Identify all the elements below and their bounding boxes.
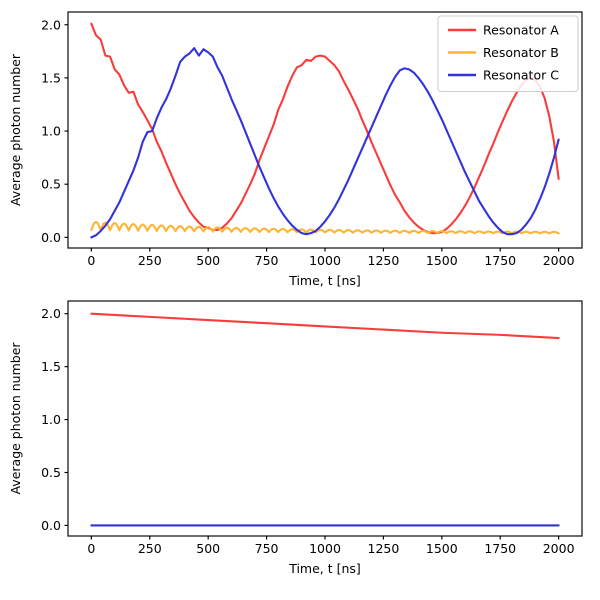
x-tick-label: 750 bbox=[255, 541, 279, 556]
y-axis-label: Average photon number bbox=[8, 342, 23, 495]
x-tick-label: 1250 bbox=[368, 253, 400, 268]
chart-panel-bottom: 025050075010001250150017502000Time, t [n… bbox=[0, 288, 600, 600]
legend: Resonator AResonator BResonator C bbox=[438, 16, 578, 92]
x-axis: 025050075010001250150017502000Time, t [n… bbox=[87, 536, 574, 576]
y-axis: 0.00.51.01.52.0Average photon number bbox=[8, 17, 68, 245]
x-tick-label: 500 bbox=[196, 253, 220, 268]
x-tick-label: 750 bbox=[255, 253, 279, 268]
chart-panel-top: 025050075010001250150017502000Time, t [n… bbox=[0, 0, 600, 300]
y-tick-label: 1.0 bbox=[41, 412, 61, 427]
y-axis: 0.00.51.01.52.0Average photon number bbox=[8, 306, 68, 533]
plot-top: 025050075010001250150017502000Time, t [n… bbox=[0, 0, 600, 300]
y-tick-label: 0.5 bbox=[41, 465, 61, 480]
x-tick-label: 0 bbox=[87, 541, 95, 556]
plot-bottom: 025050075010001250150017502000Time, t [n… bbox=[0, 288, 600, 600]
axes-frame bbox=[68, 301, 582, 536]
x-tick-label: 1000 bbox=[309, 253, 341, 268]
y-axis-label: Average photon number bbox=[8, 53, 23, 206]
y-tick-label: 0.0 bbox=[41, 518, 61, 533]
x-tick-label: 1000 bbox=[309, 541, 341, 556]
x-tick-label: 2000 bbox=[543, 253, 575, 268]
x-axis-label: Time, t [ns] bbox=[288, 561, 361, 576]
x-tick-label: 500 bbox=[196, 541, 220, 556]
x-tick-label: 0 bbox=[87, 253, 95, 268]
legend-label-resonator-a: Resonator A bbox=[483, 23, 559, 38]
x-axis-label: Time, t [ns] bbox=[288, 273, 361, 288]
y-tick-label: 2.0 bbox=[41, 17, 61, 32]
y-tick-label: 1.5 bbox=[41, 70, 61, 85]
y-tick-label: 1.5 bbox=[41, 359, 61, 374]
y-tick-label: 0.0 bbox=[41, 230, 61, 245]
x-tick-label: 250 bbox=[138, 541, 162, 556]
x-axis: 025050075010001250150017502000Time, t [n… bbox=[87, 248, 574, 288]
x-tick-label: 250 bbox=[138, 253, 162, 268]
x-tick-label: 1250 bbox=[368, 541, 400, 556]
series-line-resonator-a bbox=[91, 314, 558, 338]
legend-label-resonator-c: Resonator C bbox=[483, 68, 559, 83]
x-tick-label: 1750 bbox=[484, 541, 516, 556]
y-tick-label: 1.0 bbox=[41, 124, 61, 139]
legend-label-resonator-b: Resonator B bbox=[483, 45, 559, 60]
x-tick-label: 1750 bbox=[484, 253, 516, 268]
data-area bbox=[91, 314, 558, 526]
y-tick-label: 2.0 bbox=[41, 306, 61, 321]
x-tick-label: 2000 bbox=[543, 541, 575, 556]
series-line-resonator-b bbox=[91, 222, 558, 233]
x-tick-label: 1500 bbox=[426, 541, 458, 556]
x-tick-label: 1500 bbox=[426, 253, 458, 268]
y-tick-label: 0.5 bbox=[41, 177, 61, 192]
figure-canvas: 025050075010001250150017502000Time, t [n… bbox=[0, 0, 600, 600]
